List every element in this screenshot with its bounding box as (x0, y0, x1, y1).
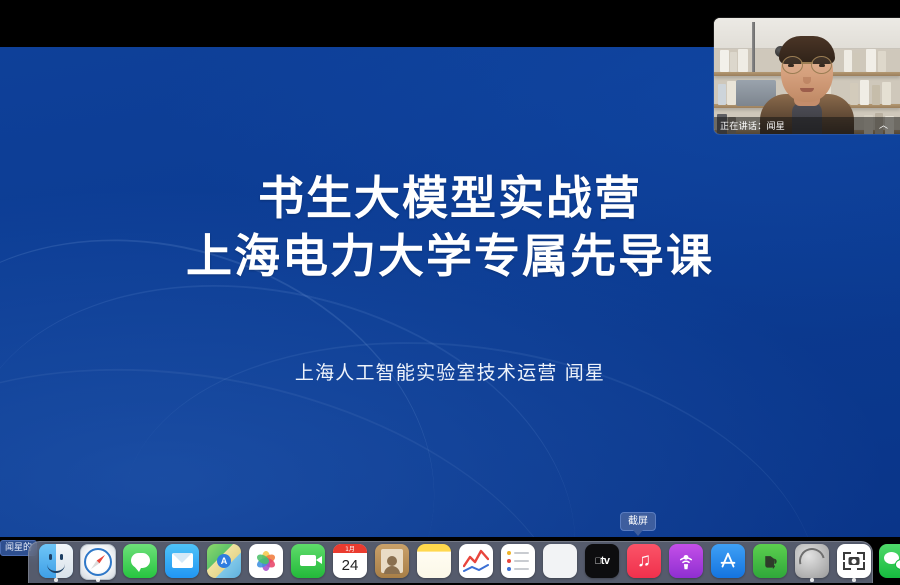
glasses-icon (782, 56, 832, 72)
running-indicator (852, 578, 856, 582)
app-store-icon (711, 544, 745, 578)
dock-item-reminders[interactable] (498, 543, 538, 583)
dock-item-stocks[interactable] (456, 543, 496, 583)
podcasts-icon (669, 544, 703, 578)
system-app-icon (795, 544, 829, 578)
calendar-month: 1月 (333, 544, 367, 553)
evernote-icon (753, 544, 787, 578)
dock-item-safari[interactable] (78, 543, 118, 583)
macos-dock: A 1月 24 (28, 541, 873, 583)
dock-tooltip: 截屏 (620, 512, 656, 531)
dock-item-appletv[interactable]: tv (582, 543, 622, 583)
calendar-day: 24 (333, 553, 367, 578)
stocks-icon (459, 544, 493, 578)
screenshot-icon (837, 544, 871, 578)
dock-item-podcasts[interactable] (666, 543, 706, 583)
dock-item-contacts[interactable] (372, 543, 412, 583)
messages-icon (123, 544, 157, 578)
dock-item-music[interactable]: ♫ (624, 543, 664, 583)
safari-icon (80, 544, 116, 580)
mail-icon (165, 544, 199, 578)
slide-title: 书生大模型实战营 上海电力大学专属先导课 (0, 169, 900, 285)
dock-item-messages[interactable] (120, 543, 160, 583)
running-indicator (810, 578, 814, 582)
music-icon: ♫ (627, 544, 661, 578)
photos-icon (249, 544, 283, 578)
dock-item-launchpad[interactable] (540, 543, 580, 583)
notes-icon (417, 544, 451, 578)
slide-title-line-1: 书生大模型实战营 (0, 169, 900, 227)
maps-pin-letter: A (217, 554, 231, 568)
wechat-icon (879, 544, 900, 578)
video-label-bar: 正在讲话：闻星 ︿ (714, 117, 900, 134)
dock-item-maps[interactable]: A (204, 543, 244, 583)
contacts-icon (375, 544, 409, 578)
apple-tv-glyph: tv (601, 555, 610, 567)
slide-title-line-2: 上海电力大学专属先导课 (0, 227, 900, 285)
speaking-label: 正在讲话：闻星 (720, 119, 785, 132)
podcast-glyph-icon (675, 550, 697, 572)
facetime-icon (291, 544, 325, 578)
dock-item-appstore[interactable] (708, 543, 748, 583)
music-note-glyph: ♫ (637, 550, 651, 572)
finder-icon (39, 544, 73, 578)
running-indicator (54, 578, 58, 582)
dock-item-wechat[interactable] (876, 543, 900, 583)
launchpad-icon (543, 544, 577, 578)
elephant-glyph-icon (760, 550, 781, 571)
app-store-glyph-icon (717, 550, 739, 572)
dock-item-mail[interactable] (162, 543, 202, 583)
dock-item-finder[interactable] (36, 543, 76, 583)
calendar-icon: 1月 24 (333, 544, 367, 578)
dock-item-photos[interactable] (246, 543, 286, 583)
dock-item-evernote[interactable] (750, 543, 790, 583)
dock-item-system-gray[interactable] (792, 543, 832, 583)
apple-tv-icon: tv (585, 544, 619, 578)
chevron-up-icon[interactable]: ︿ (879, 121, 894, 130)
running-indicator (96, 578, 100, 582)
speaker-video-tile[interactable]: 正在讲话：闻星 ︿ (714, 18, 900, 134)
screen-capture: 书生大模型实战营 上海电力大学专属先导课 上海人工智能实验室技术运营 闻星 (0, 0, 900, 585)
maps-icon: A (207, 544, 241, 578)
slide-subtitle: 上海人工智能实验室技术运营 闻星 (0, 358, 900, 385)
stocks-graph-icon (463, 548, 489, 574)
dock-item-calendar[interactable]: 1月 24 (330, 543, 370, 583)
reminders-icon (501, 544, 535, 578)
dock-item-screenshot[interactable] (834, 543, 874, 583)
dock-item-facetime[interactable] (288, 543, 328, 583)
dock-item-notes[interactable] (414, 543, 454, 583)
